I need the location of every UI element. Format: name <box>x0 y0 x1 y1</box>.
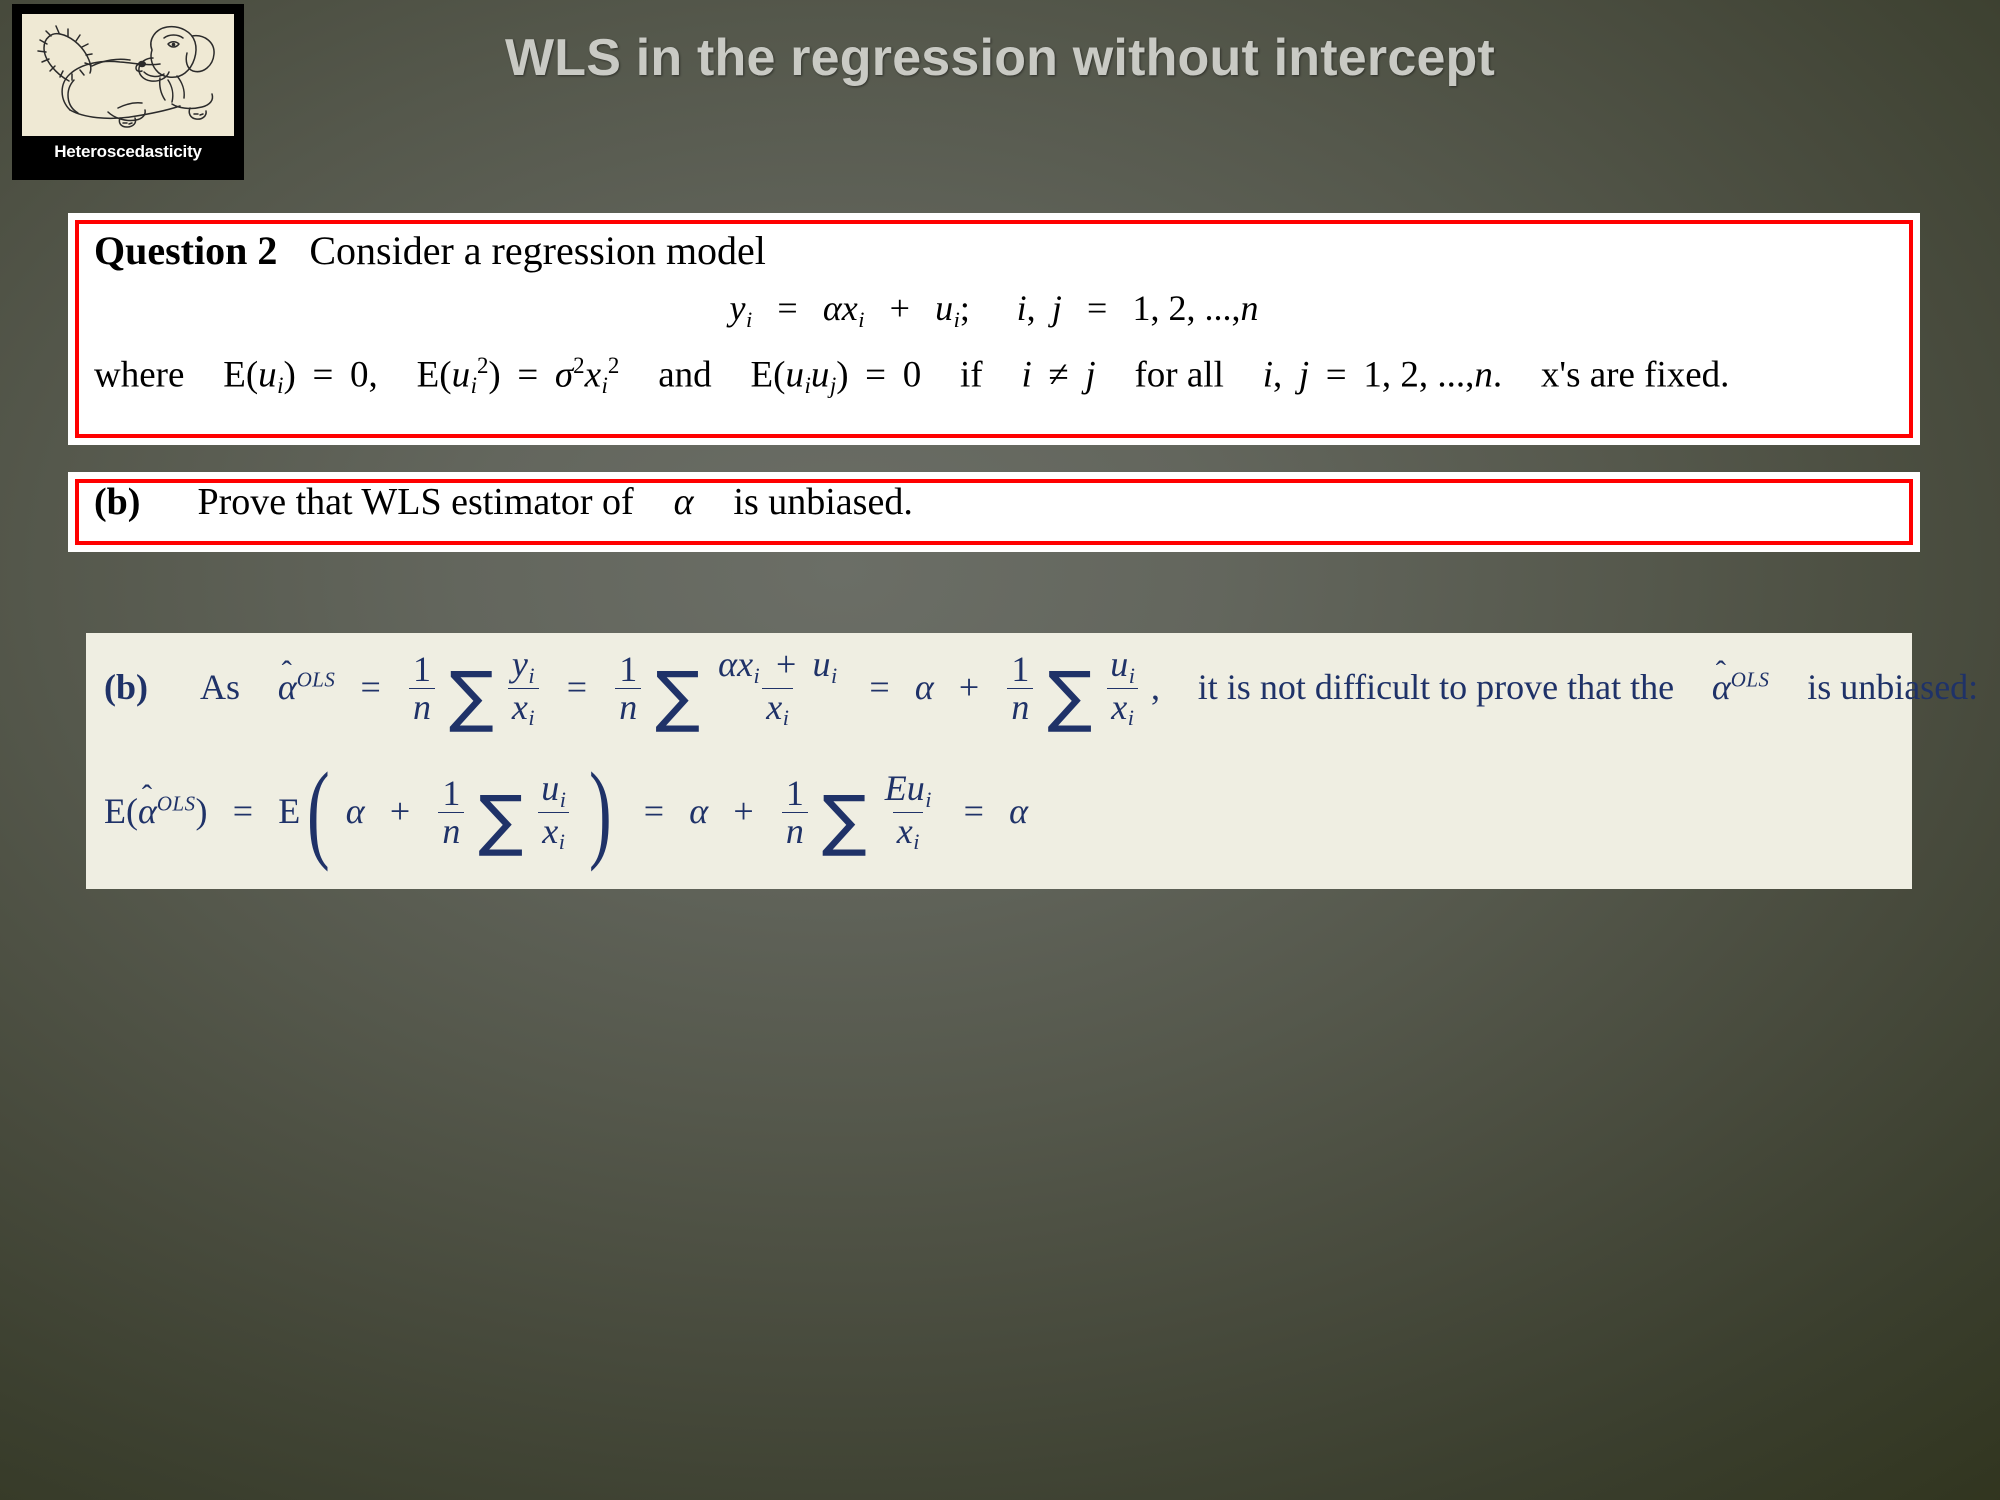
ols-sup-2: OLS <box>1731 667 1770 691</box>
page-title: WLS in the regression without intercept <box>250 28 1750 88</box>
num-2: 1 <box>615 651 641 688</box>
big-lparen: ( <box>307 772 330 851</box>
u-3: u <box>785 354 804 395</box>
eq-s1: = <box>361 667 381 707</box>
one-over-n-2: 1n <box>615 651 641 725</box>
range-2: 1, 2, ..., <box>1363 354 1474 395</box>
den-n-2: n <box>615 688 641 726</box>
solution-mid-text: it is not difficult to prove that the <box>1198 667 1674 707</box>
x-sq: x <box>585 354 601 395</box>
u-3a: u <box>541 768 559 808</box>
num-3: 1 <box>1007 651 1033 688</box>
part-b-box-inner: (b) Prove that WLS estimator of α is unb… <box>75 479 1913 545</box>
j-range: j <box>1299 354 1309 395</box>
eq-y: y <box>729 288 745 328</box>
u-2: u <box>452 354 471 395</box>
eq-semicolon: ; <box>960 288 970 328</box>
alpha-2: α <box>915 667 934 707</box>
lparen-s1: ( <box>126 791 138 831</box>
eq-s5: = <box>644 791 664 831</box>
i-range: i <box>1263 354 1273 395</box>
sum-symbol-2: ∑ <box>655 657 700 735</box>
eq-s6: = <box>964 791 984 831</box>
plus-num: + <box>776 644 796 684</box>
den-n-3: n <box>1007 688 1033 726</box>
eq-d: = <box>1326 354 1347 395</box>
and-word: and <box>658 354 711 395</box>
sum-symbol-3: ∑ <box>1047 657 1092 735</box>
u-2a: u <box>1110 644 1128 684</box>
comma-1: , <box>369 354 378 395</box>
x-2a: x <box>1111 687 1127 727</box>
dog-icon <box>22 14 234 136</box>
question-box: Question 2Consider a regression model yi… <box>68 213 1920 445</box>
alpha-num: α <box>718 644 737 684</box>
eq-y-sub: i <box>746 307 752 332</box>
x-fixed-text: x's are fixed. <box>1541 354 1730 395</box>
Eu-over-x: Euixi <box>881 770 936 854</box>
logo-caption: Heteroscedasticity <box>22 142 234 162</box>
u-3a-sub: i <box>560 787 566 812</box>
x-1: x <box>512 687 528 727</box>
alpha-hat-2: ˆα <box>1712 666 1731 708</box>
E-s1: E <box>104 791 126 831</box>
den-n-5: n <box>782 812 808 850</box>
eq-equals2: = <box>1087 288 1107 328</box>
eq-equals: = <box>777 288 797 328</box>
part-b-box: (b) Prove that WLS estimator of α is unb… <box>68 472 1920 552</box>
x-den: x <box>766 687 782 727</box>
den-n-1: n <box>409 688 435 726</box>
zero-1: 0 <box>350 354 369 395</box>
one-over-n-5: 1n <box>782 775 808 849</box>
ols-sup-1: OLS <box>297 667 336 691</box>
alpha-7: α <box>1009 791 1028 831</box>
eq-plus: + <box>890 288 910 328</box>
ols-sup-3: OLS <box>157 791 196 815</box>
E-1: E <box>223 354 246 395</box>
one-over-n-1: 1n <box>409 651 435 725</box>
solution-line-2: E(ˆαOLS) = E( α + 1n ∑ uixi ) = α + 1n ∑… <box>104 773 1028 857</box>
slide-canvas: Heteroscedasticity WLS in the regression… <box>0 0 2000 1500</box>
n-2: n <box>1474 354 1493 395</box>
solution-line-1: (b) As ˆαOLS = 1n ∑ yixi = 1n ∑ αxi+uixi… <box>104 649 1978 733</box>
x-num-sub: i <box>754 663 760 688</box>
ax-plus-u-over-x: αxi+uixi <box>714 646 841 730</box>
eq-c: = <box>865 354 886 395</box>
period-1: . <box>1493 354 1502 395</box>
u-2-pow: 2 <box>477 353 488 378</box>
model-equation: yi = αxi + ui; i,j = 1, 2, ...,n <box>68 287 1920 333</box>
x-3a: x <box>542 811 558 851</box>
num-5: 1 <box>782 775 808 812</box>
u-num: u <box>812 644 830 684</box>
x-4a-sub: i <box>913 829 919 854</box>
solution-label: (b) <box>104 667 148 707</box>
solution-as-word: As <box>200 667 240 707</box>
part-b-text-before: Prove that WLS estimator of <box>197 481 633 523</box>
eq-x-sub: i <box>858 307 864 332</box>
E-2: E <box>417 354 440 395</box>
eq-n: n <box>1241 288 1259 328</box>
one-over-n-3: 1n <box>1007 651 1033 725</box>
num-4: 1 <box>438 775 464 812</box>
alpha-6: α <box>689 791 708 831</box>
sigma-pow: 2 <box>573 353 584 378</box>
solution-block: (b) As ˆαOLS = 1n ∑ yixi = 1n ∑ αxi+uixi… <box>86 633 1912 889</box>
comma-2: , <box>1273 354 1282 395</box>
j-neq: j <box>1085 354 1095 395</box>
x-4a: x <box>897 811 913 851</box>
hat-mark-2: ˆ <box>1716 657 1726 688</box>
y-over-x-1: yixi <box>508 646 539 730</box>
where-word: where <box>94 354 184 395</box>
question-intro: Consider a regression model <box>309 228 766 273</box>
E-3: E <box>751 354 774 395</box>
eq-u: u <box>935 288 953 328</box>
part-b-alpha: α <box>674 481 694 523</box>
eq-comma: , <box>1027 288 1036 328</box>
assumptions-line: where E(ui)=0, E(ui2)=σ2xi2 and E(uiuj)=… <box>94 353 1729 399</box>
x-sq-pow: 2 <box>608 353 619 378</box>
forall-words: for all <box>1134 354 1223 395</box>
solution-end-text: is unbiased: <box>1807 667 1978 707</box>
question-heading: Question 2Consider a regression model <box>94 227 766 274</box>
u-over-x-1: uixi <box>1106 646 1139 730</box>
eq-x: x <box>842 288 858 328</box>
rparen-s1: ) <box>196 791 208 831</box>
if-word: if <box>960 354 983 395</box>
y-1: y <box>512 644 528 684</box>
part-b-label: (b) <box>94 481 140 523</box>
u-2a-sub: i <box>1129 663 1135 688</box>
big-rparen: ) <box>589 772 612 851</box>
eq-alpha: α <box>823 288 842 328</box>
x-num: x <box>737 644 753 684</box>
eq-s3: = <box>869 667 889 707</box>
plus-s2: + <box>390 791 410 831</box>
eq-s4: = <box>233 791 253 831</box>
eq-range: 1, 2, ..., <box>1133 288 1241 328</box>
eq-index-j: j <box>1052 288 1062 328</box>
sigma: σ <box>555 354 573 395</box>
Eu-num: Eu <box>885 768 925 808</box>
eq-index-i: i <box>1017 288 1027 328</box>
plus-s3: + <box>733 791 753 831</box>
num-1: 1 <box>409 651 435 688</box>
alpha-5: α <box>346 791 365 831</box>
one-over-n-4: 1n <box>438 775 464 849</box>
x-2a-sub: i <box>1128 705 1134 730</box>
hat-mark-3: ˆ <box>142 781 152 812</box>
y-1-sub: i <box>528 663 534 688</box>
part-b-statement: (b) Prove that WLS estimator of α is unb… <box>94 480 913 524</box>
x-1-sub: i <box>528 705 534 730</box>
u-num-sub: i <box>831 663 837 688</box>
i-neq: i <box>1021 354 1031 395</box>
u-4: u <box>811 354 830 395</box>
u-over-x-2: uixi <box>537 770 570 854</box>
eq-a: = <box>313 354 334 395</box>
E-s2: E <box>278 791 300 831</box>
alpha-hat-1: ˆα <box>278 666 297 708</box>
den-n-4: n <box>438 812 464 850</box>
zero-2: 0 <box>903 354 922 395</box>
hat-mark-1: ˆ <box>282 657 292 688</box>
sum-symbol-4: ∑ <box>478 781 523 859</box>
x-3a-sub: i <box>559 829 565 854</box>
x-den-sub: i <box>783 705 789 730</box>
question-label: Question 2 <box>94 228 277 273</box>
eq-b: = <box>517 354 538 395</box>
u-1: u <box>258 354 277 395</box>
sum-symbol-1: ∑ <box>449 657 494 735</box>
plus-s1: + <box>959 667 979 707</box>
heteroscedasticity-logo: Heteroscedasticity <box>12 4 244 180</box>
sum-symbol-5: ∑ <box>822 781 867 859</box>
alpha-hat-3: ˆα <box>138 790 157 832</box>
comma-s1: , <box>1151 667 1160 707</box>
eq-s2: = <box>567 667 587 707</box>
part-b-text-after: is unbiased. <box>733 481 912 523</box>
question-box-inner: Question 2Consider a regression model yi… <box>75 220 1913 438</box>
Eu-num-sub: i <box>925 787 931 812</box>
neq-sign: ≠ <box>1048 354 1068 395</box>
